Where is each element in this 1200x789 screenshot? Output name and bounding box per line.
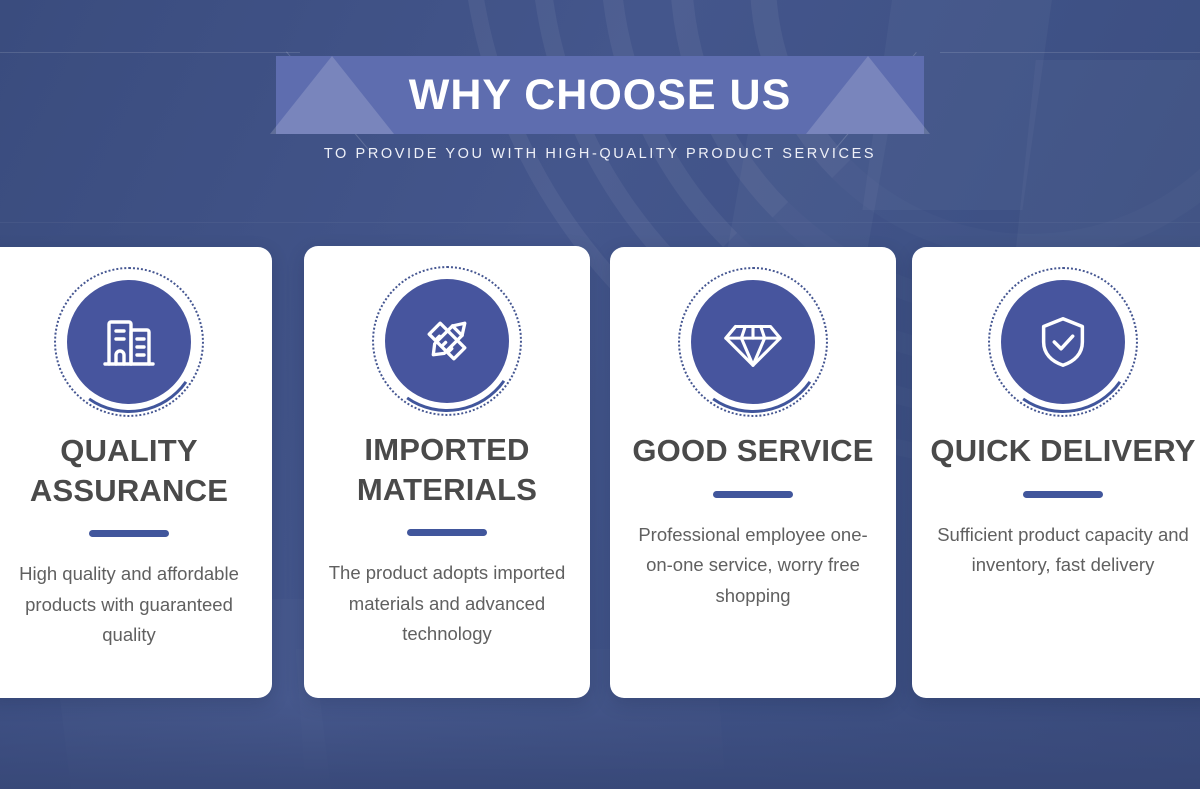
icon-badge: [372, 266, 522, 416]
feature-card[interactable]: GOOD SERVICE Professional employee one-o…: [610, 247, 896, 698]
icon-circle: [691, 280, 815, 404]
page-title: WHY CHOOSE US: [409, 74, 792, 117]
icon-circle: [67, 280, 191, 404]
card-description: High quality and affordable products wit…: [0, 559, 272, 651]
icon-badge: [678, 267, 828, 417]
card-description: The product adopts imported materials an…: [304, 558, 590, 650]
accent-bar: [713, 491, 793, 498]
card-title: IMPORTED MATERIALS: [304, 430, 590, 509]
shield-check-icon: [1032, 311, 1094, 373]
section-header: WHY CHOOSE US TO PROVIDE YOU WITH HIGH-Q…: [0, 0, 1200, 230]
icon-badge: [54, 267, 204, 417]
icon-badge: [988, 267, 1138, 417]
card-title: QUICK DELIVERY: [918, 431, 1200, 471]
title-banner-text-layer: WHY CHOOSE US: [276, 56, 924, 134]
accent-bar: [89, 530, 169, 537]
icon-circle: [385, 279, 509, 403]
pencil-ruler-icon: [416, 310, 478, 372]
background-bottom-band: [0, 697, 1200, 789]
card-title: QUALITY ASSURANCE: [0, 431, 272, 510]
accent-bar: [1023, 491, 1103, 498]
card-description: Sufficient product capacity and inventor…: [912, 520, 1200, 581]
feature-card[interactable]: QUALITY ASSURANCE High quality and affor…: [0, 247, 272, 698]
title-banner: WHY CHOOSE US: [276, 56, 924, 134]
page-subtitle: TO PROVIDE YOU WITH HIGH-QUALITY PRODUCT…: [0, 146, 1200, 162]
card-title: GOOD SERVICE: [620, 431, 885, 471]
accent-bar: [407, 529, 487, 536]
feature-card[interactable]: IMPORTED MATERIALS The product adopts im…: [304, 246, 590, 698]
icon-circle: [1001, 280, 1125, 404]
card-description: Professional employee one-on-one service…: [610, 520, 896, 612]
feature-card[interactable]: QUICK DELIVERY Sufficient product capaci…: [912, 247, 1200, 698]
office-building-icon: [97, 310, 161, 374]
feature-card-list: QUALITY ASSURANCE High quality and affor…: [0, 246, 1200, 698]
diamond-icon: [722, 311, 784, 373]
